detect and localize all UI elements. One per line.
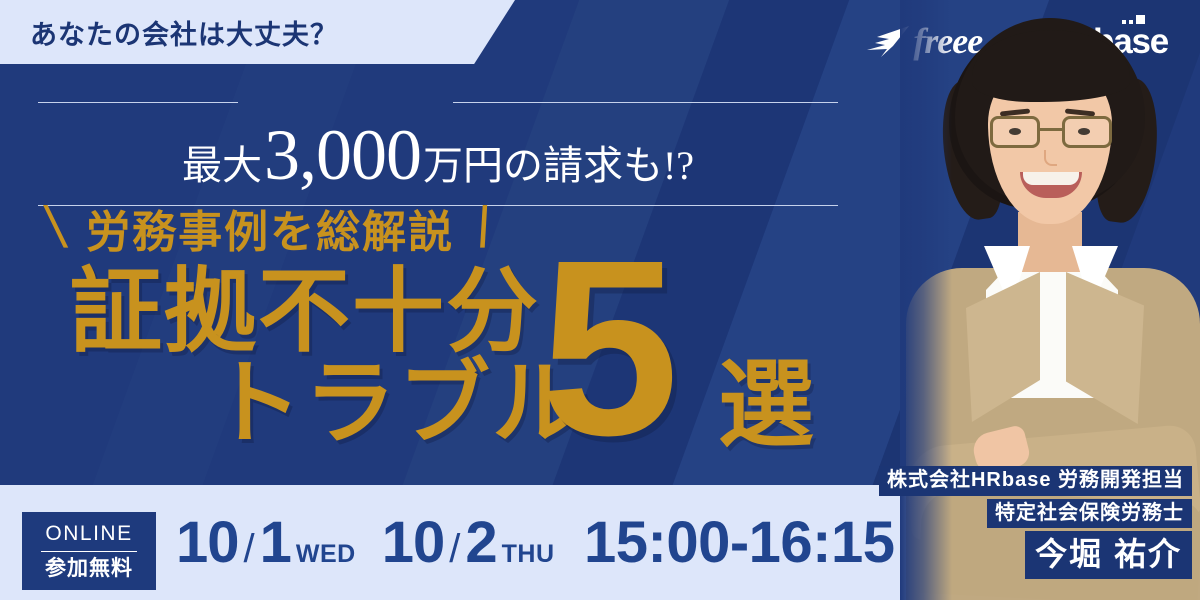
kicker-amount: 3,000	[264, 114, 421, 197]
top-ribbon-text: あなたの会社は大丈夫？	[30, 0, 338, 64]
subtitle-block: \ 労務事例を総解説 /	[48, 196, 492, 260]
photo-lens-right	[1062, 116, 1112, 148]
speaker-qualification: 特定社会保険労務士	[987, 499, 1192, 529]
event-time: 15:00-16:15	[584, 514, 895, 572]
subtitle-text: 労務事例を総解説	[86, 196, 454, 260]
webinar-banner: あなたの会社は大丈夫？ freee × HRbase 最大 3,000 万円の請…	[0, 0, 1200, 600]
date2-day: 2	[465, 514, 496, 572]
rule-segment	[38, 102, 238, 103]
badge-divider	[41, 551, 137, 552]
kicker-text: 最大 3,000 万円の請求も!?	[38, 114, 838, 197]
date2-month: 10	[382, 514, 445, 572]
photo-glasses-bridge	[1040, 128, 1062, 131]
rule-segment	[453, 102, 838, 103]
kicker-block: 最大 3,000 万円の請求も!?	[38, 96, 838, 206]
event-dates: 10 / 1 WED 10 / 2 THU	[176, 514, 555, 572]
kicker-suffix: 万円の請求も!?	[423, 133, 694, 191]
date1-dow: WED	[296, 542, 356, 567]
event-date-1: 10 / 1 WED	[176, 514, 356, 572]
speaker-name: 今堀 祐介	[1025, 531, 1192, 579]
speaker-affiliation: 株式会社HRbase 労務開発担当	[879, 466, 1192, 496]
glasses-icon	[990, 116, 1112, 150]
date1-day: 1	[260, 514, 291, 572]
photo-nose	[1044, 150, 1057, 166]
main-title-line2: トラブル	[210, 358, 586, 452]
badge-free-label: 参加無料	[45, 557, 133, 580]
speaker-caption-block: 株式会社HRbase 労務開発担当 特定社会保険労務士 今堀 祐介	[879, 466, 1192, 579]
date1-month: 10	[176, 514, 239, 572]
main-title-line1: 証拠不十分	[70, 266, 540, 360]
main-title-count-unit: 選	[718, 358, 814, 454]
photo-teeth	[1023, 172, 1079, 185]
date2-dow: THU	[502, 542, 555, 567]
kicker-rule-top	[38, 96, 838, 108]
kicker-prefix: 最大	[182, 133, 262, 191]
date2-slash: /	[449, 529, 460, 569]
event-date-2: 10 / 2 THU	[382, 514, 555, 572]
online-free-badge: ONLINE 参加無料	[22, 512, 156, 590]
photo-lens-left	[990, 116, 1040, 148]
badge-online-label: ONLINE	[45, 522, 132, 545]
main-title-count: 5	[540, 250, 675, 445]
date1-slash: /	[244, 529, 255, 569]
